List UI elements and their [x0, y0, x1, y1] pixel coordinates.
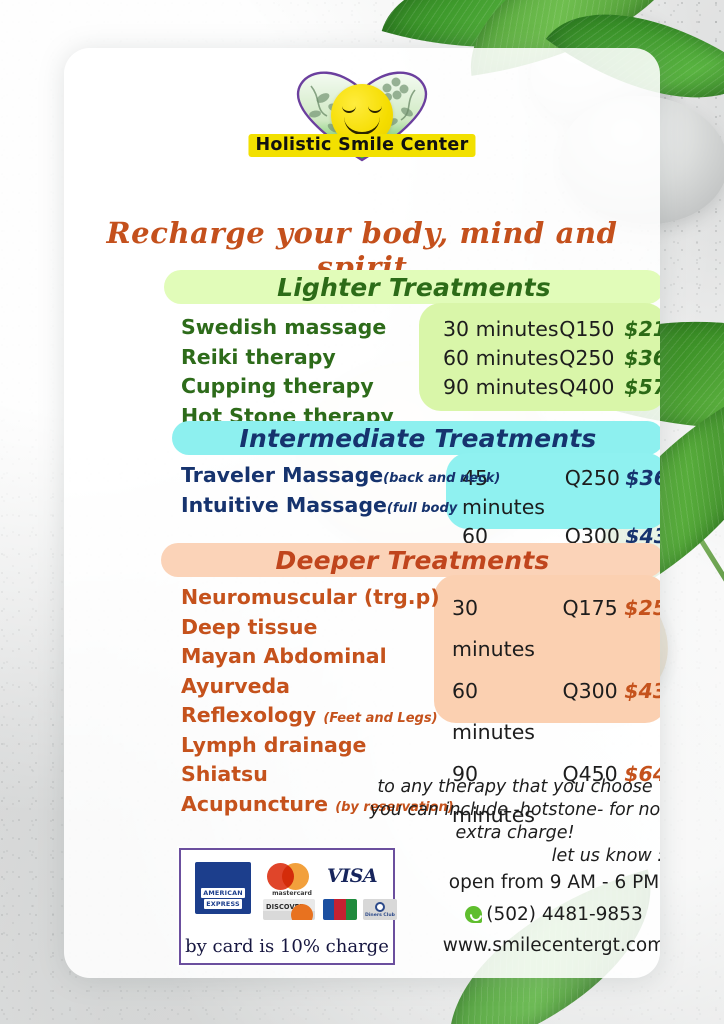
- mastercard-icon: mastercard: [265, 861, 319, 899]
- treatment-list: Swedish massage Reiki therapy Cupping th…: [181, 313, 394, 431]
- treatment-item: Cupping therapy: [181, 372, 394, 402]
- price-quetzal: Q175: [562, 588, 624, 629]
- whatsapp-icon: [465, 906, 482, 923]
- price-quetzal: Q150: [559, 315, 624, 344]
- treatment-name: Reflexology: [181, 703, 316, 727]
- hotstone-note: to any therapy that you choose you can i…: [360, 776, 660, 868]
- content-card: Holistic Smile Center Recharge your body…: [64, 48, 660, 978]
- treatment-note: (full body: [387, 501, 457, 516]
- website[interactable]: www.smilecentergt.com: [404, 937, 660, 956]
- price-row: 60 minutes Q250 $36: [443, 344, 660, 373]
- price-row: 30 minutes Q150 $21: [443, 315, 660, 344]
- treatment-name: Acupuncture: [181, 792, 328, 816]
- section-title: Lighter Treatments: [277, 273, 551, 302]
- treatment-item: Traveler Massage(back and neck): [181, 461, 500, 491]
- amex-line-1: AMERICAN: [201, 888, 245, 898]
- amex-icon: AMERICAN EXPRESS: [195, 862, 251, 914]
- price-panel: 30 minutes Q150 $21 60 minutes Q250 $36 …: [419, 303, 660, 411]
- brand-name: Holistic Smile Center: [248, 134, 475, 157]
- phone-line: (502) 4481-9853: [404, 906, 660, 925]
- price-quetzal: Q300: [562, 671, 624, 712]
- price-duration: 30 minutes: [443, 315, 559, 344]
- treatment-note: (Feet and Legs): [323, 711, 437, 726]
- treatment-list: Traveler Massage(back and neck) Intuitiv…: [181, 461, 500, 520]
- treatment-item: Neuromuscular (trg.p): [181, 583, 454, 613]
- section-banner: Deeper Treatments: [161, 543, 660, 577]
- brand-logo: Holistic Smile Center: [267, 60, 457, 172]
- section-title: Intermediate Treatments: [240, 424, 597, 453]
- price-usd: $25: [624, 588, 660, 629]
- price-duration: 90 minutes: [443, 373, 559, 402]
- price-quetzal: Q250: [559, 344, 624, 373]
- treatment-item: Swedish massage: [181, 313, 394, 343]
- price-duration: 60 minutes: [452, 671, 562, 754]
- mastercard-label: mastercard: [265, 890, 319, 897]
- price-panel: 30 minutes Q175 $25 60 minutes Q300 $43 …: [434, 575, 660, 723]
- price-quetzal: Q250: [565, 464, 626, 493]
- price-row: 30 minutes Q175 $25: [452, 588, 660, 671]
- treatment-note: (back and neck): [383, 471, 500, 486]
- card-charge-text: by card is 10% charge: [181, 936, 393, 957]
- price-usd: $57: [624, 373, 660, 402]
- note-line-2: include -hotstone- for no extra charge!: [444, 800, 660, 843]
- amex-line-2: EXPRESS: [204, 899, 242, 909]
- treatment-item: Ayurveda: [181, 672, 454, 702]
- jcb-icon: [323, 899, 357, 920]
- treatment-item: Mayan Abdominal: [181, 642, 454, 672]
- price-usd: $36: [624, 344, 660, 373]
- card-logos: AMERICAN EXPRESS mastercard VISA DISCOVE…: [181, 857, 393, 919]
- phone-number[interactable]: (502) 4481-9853: [486, 904, 642, 925]
- price-quetzal: Q400: [559, 373, 624, 402]
- treatment-name: Intuitive Massage: [181, 493, 387, 517]
- diners-club-icon: Diners Club: [363, 899, 397, 920]
- price-duration: 30 minutes: [452, 588, 562, 671]
- visa-icon: VISA: [327, 865, 377, 887]
- treatment-name: Traveler Massage: [181, 463, 383, 487]
- treatment-item: Lymph drainage: [181, 731, 454, 761]
- price-duration: 60 minutes: [443, 344, 559, 373]
- treatment-item: Deep tissue: [181, 613, 454, 643]
- section-banner: Intermediate Treatments: [172, 421, 660, 455]
- price-row: 90 minutes Q400 $57: [443, 373, 660, 402]
- price-list-poster: Holistic Smile Center Recharge your body…: [0, 0, 724, 1024]
- payment-methods-box: AMERICAN EXPRESS mastercard VISA DISCOVE…: [179, 848, 395, 965]
- price-usd: $21: [624, 315, 660, 344]
- price-usd: $43: [624, 671, 660, 712]
- treatment-item: Intuitive Massage(full body: [181, 491, 500, 521]
- treatment-item: Reiki therapy: [181, 343, 394, 373]
- price-row: 60 minutes Q300 $43: [452, 671, 660, 754]
- note-line-3: let us know :): [360, 845, 660, 868]
- section-title: Deeper Treatments: [276, 546, 550, 575]
- price-usd: $36: [625, 464, 660, 493]
- contact-info: open from 9 AM - 6 PM (502) 4481-9853 ww…: [404, 874, 660, 969]
- opening-hours: open from 9 AM - 6 PM: [404, 874, 660, 893]
- treatment-item: Reflexology (Feet and Legs): [181, 701, 454, 731]
- section-banner: Lighter Treatments: [164, 270, 660, 304]
- diners-label: Diners Club: [365, 913, 395, 918]
- discover-icon: DISCOVER: [263, 899, 315, 920]
